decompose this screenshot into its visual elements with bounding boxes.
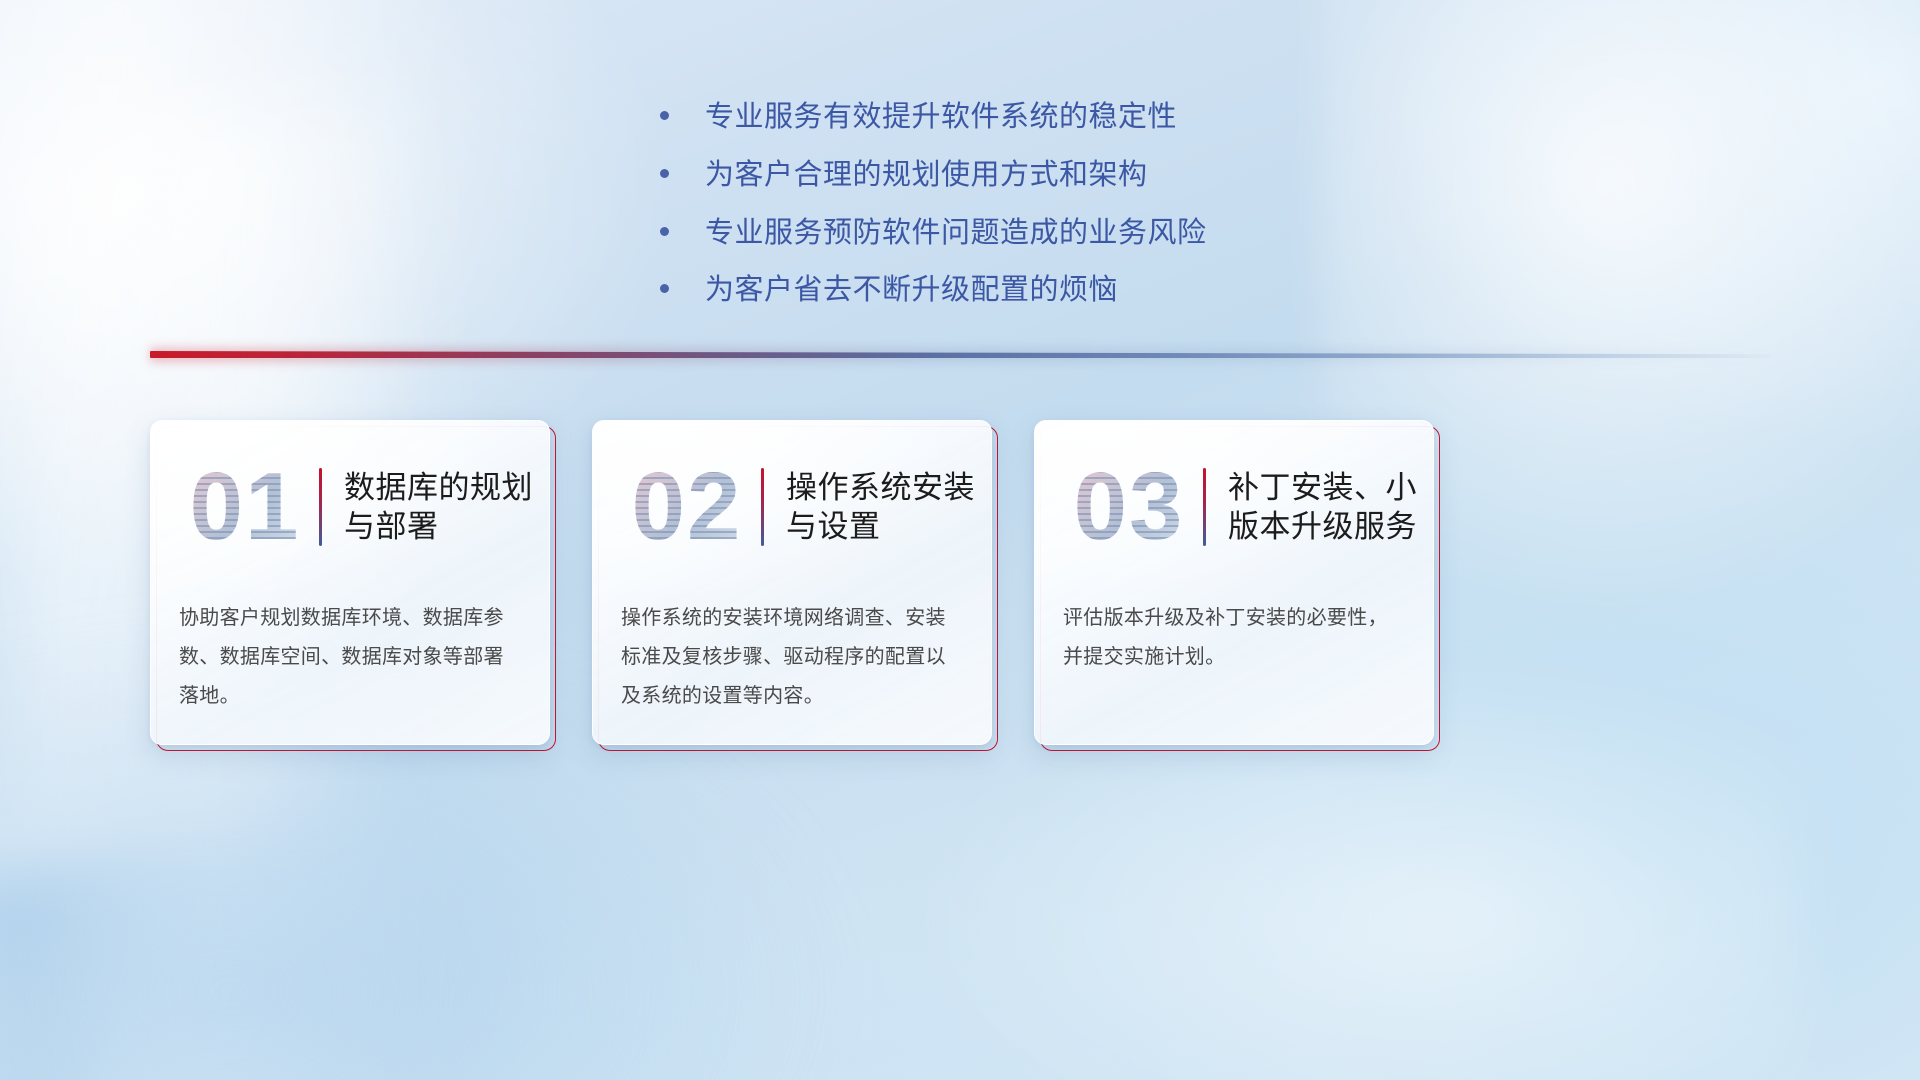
card-number: 01 (175, 459, 315, 555)
accent-bar (1203, 468, 1206, 546)
slide-root: 专业服务有效提升软件系统的稳定性 为客户合理的规划使用方式和架构 专业服务预防软… (0, 0, 1920, 1080)
bullet-dot-icon (660, 227, 669, 236)
accent-bar (319, 468, 322, 546)
card-body: 03 补丁安装、小 版本升级服务 评估版本升级及补丁安装的必要性，并提交实施计划… (1034, 420, 1434, 745)
card-header: 01 数据库的规划 与部署 (151, 443, 549, 571)
list-item: 专业服务有效提升软件系统的稳定性 (660, 100, 1420, 135)
bullet-text: 为客户合理的规划使用方式和架构 (705, 158, 1148, 193)
bullet-text: 为客户省去不断升级配置的烦恼 (705, 273, 1118, 308)
card-02[interactable]: 02 操作系统安装 与设置 操作系统的安装环境网络调查、安装标准及复核步骤、驱动… (592, 420, 992, 745)
bullet-text: 专业服务预防软件问题造成的业务风险 (705, 216, 1207, 251)
list-item: 为客户合理的规划使用方式和架构 (660, 158, 1420, 193)
bullet-dot-icon (660, 284, 669, 293)
card-03[interactable]: 03 补丁安装、小 版本升级服务 评估版本升级及补丁安装的必要性，并提交实施计划… (1034, 420, 1434, 745)
card-number: 03 (1059, 459, 1199, 555)
bullet-text: 专业服务有效提升软件系统的稳定性 (705, 100, 1177, 135)
card-header: 02 操作系统安装 与设置 (593, 443, 991, 571)
card-01[interactable]: 01 数据库的规划 与部署 协助客户规划数据库环境、数据库参数、数据库空间、数据… (150, 420, 550, 745)
card-number: 02 (617, 459, 757, 555)
bullet-list: 专业服务有效提升软件系统的稳定性 为客户合理的规划使用方式和架构 专业服务预防软… (660, 100, 1420, 331)
card-description: 操作系统的安装环境网络调查、安装标准及复核步骤、驱动程序的配置以及系统的设置等内… (621, 599, 965, 716)
card-group: 01 数据库的规划 与部署 协助客户规划数据库环境、数据库参数、数据库空间、数据… (150, 420, 1434, 745)
card-header: 03 补丁安装、小 版本升级服务 (1035, 443, 1433, 571)
bullet-dot-icon (660, 111, 669, 120)
list-item: 专业服务预防软件问题造成的业务风险 (660, 216, 1420, 251)
card-title: 补丁安装、小 版本升级服务 (1228, 468, 1417, 546)
card-title: 数据库的规划 与部署 (344, 468, 533, 546)
card-description: 评估版本升级及补丁安装的必要性，并提交实施计划。 (1063, 599, 1407, 677)
accent-bar (761, 468, 764, 546)
bullet-dot-icon (660, 169, 669, 178)
section-divider (150, 348, 1770, 364)
card-title: 操作系统安装 与设置 (786, 468, 975, 546)
list-item: 为客户省去不断升级配置的烦恼 (660, 273, 1420, 308)
card-body: 01 数据库的规划 与部署 协助客户规划数据库环境、数据库参数、数据库空间、数据… (150, 420, 550, 745)
card-description: 协助客户规划数据库环境、数据库参数、数据库空间、数据库对象等部署落地。 (179, 599, 523, 716)
card-body: 02 操作系统安装 与设置 操作系统的安装环境网络调查、安装标准及复核步骤、驱动… (592, 420, 992, 745)
